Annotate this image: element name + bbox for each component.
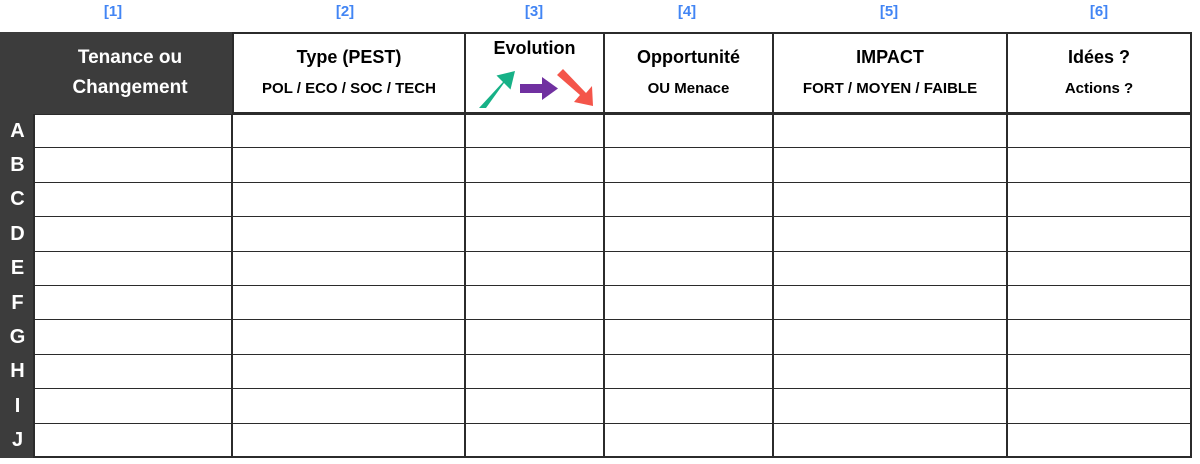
row-label-a: A (0, 114, 33, 148)
table-row (33, 320, 1192, 354)
table-cell-i-3[interactable] (465, 389, 604, 423)
table-cell-e-6[interactable] (1007, 252, 1192, 286)
header-subtitle-menace: OU Menace (648, 76, 730, 102)
table-cell-f-6[interactable] (1007, 286, 1192, 320)
table-cell-h-6[interactable] (1007, 355, 1192, 389)
header-title-impact: IMPACT (856, 44, 924, 70)
header-cell-type-pest: Type (PEST) POL / ECO / SOC / TECH (232, 32, 465, 114)
arrow-up-right-icon (479, 71, 515, 108)
table-cell-a-5[interactable] (773, 114, 1007, 148)
row-label-e: E (0, 252, 33, 286)
table-cell-f-3[interactable] (465, 286, 604, 320)
table-cell-d-1[interactable] (33, 217, 232, 251)
table-cell-c-5[interactable] (773, 183, 1007, 217)
row-label-c: C (0, 183, 33, 217)
table-cell-e-1[interactable] (33, 252, 232, 286)
table-cell-b-4[interactable] (604, 148, 773, 182)
table-cell-e-2[interactable] (232, 252, 465, 286)
row-letter-rail: ABCDEFGHIJ (0, 114, 33, 458)
table-cell-f-1[interactable] (33, 286, 232, 320)
table-cell-d-6[interactable] (1007, 217, 1192, 251)
table-row (33, 148, 1192, 182)
column-number-strip: [1][2][3][4][5][6] (0, 0, 1200, 32)
row-label-i: I (0, 389, 33, 423)
row-label-b: B (0, 148, 33, 182)
pest-analysis-worksheet: [1][2][3][4][5][6] Tenance ou Changement… (0, 0, 1200, 464)
table-cell-g-5[interactable] (773, 320, 1007, 354)
row-label-h: H (0, 355, 33, 389)
table-cell-j-6[interactable] (1007, 424, 1192, 458)
table-cell-h-5[interactable] (773, 355, 1007, 389)
evolution-arrows-group (474, 65, 596, 111)
pest-table: Tenance ou Changement ABCDEFGHIJ Type (P… (0, 32, 1192, 458)
column-number-5: [5] (880, 3, 898, 20)
table-cell-j-5[interactable] (773, 424, 1007, 458)
table-cell-c-3[interactable] (465, 183, 604, 217)
table-cell-i-5[interactable] (773, 389, 1007, 423)
table-cell-c-2[interactable] (232, 183, 465, 217)
header-row: Type (PEST) POL / ECO / SOC / TECH Evolu… (232, 32, 1192, 114)
table-cell-g-4[interactable] (604, 320, 773, 354)
table-cell-d-4[interactable] (604, 217, 773, 251)
table-row (33, 183, 1192, 217)
table-cell-j-2[interactable] (232, 424, 465, 458)
table-cell-g-3[interactable] (465, 320, 604, 354)
table-cell-a-1[interactable] (33, 114, 232, 148)
table-cell-g-1[interactable] (33, 320, 232, 354)
header-title-idees: Idées ? (1068, 44, 1130, 70)
table-cell-f-2[interactable] (232, 286, 465, 320)
table-cell-i-6[interactable] (1007, 389, 1192, 423)
column-number-2: [2] (336, 3, 354, 20)
table-cell-b-5[interactable] (773, 148, 1007, 182)
table-row (33, 286, 1192, 320)
header-subtitle-actions: Actions ? (1065, 76, 1133, 102)
table-cell-i-1[interactable] (33, 389, 232, 423)
header-cell-opportunite-menace: Opportunité OU Menace (604, 32, 773, 114)
table-cell-a-3[interactable] (465, 114, 604, 148)
table-cell-c-4[interactable] (604, 183, 773, 217)
table-cell-b-2[interactable] (232, 148, 465, 182)
table-cell-b-3[interactable] (465, 148, 604, 182)
table-cell-a-2[interactable] (232, 114, 465, 148)
table-cell-d-3[interactable] (465, 217, 604, 251)
table-cell-j-4[interactable] (604, 424, 773, 458)
header-subtitle-impact: FORT / MOYEN / FAIBLE (803, 76, 977, 102)
row-label-d: D (0, 217, 33, 251)
table-cell-c-6[interactable] (1007, 183, 1192, 217)
header-title-line1: Tenance ou (0, 43, 232, 73)
table-cell-i-4[interactable] (604, 389, 773, 423)
table-cell-g-2[interactable] (232, 320, 465, 354)
table-cell-i-2[interactable] (232, 389, 465, 423)
table-cell-h-3[interactable] (465, 355, 604, 389)
table-row (33, 217, 1192, 251)
table-cell-h-4[interactable] (604, 355, 773, 389)
arrow-right-icon (520, 77, 558, 100)
table-cell-b-6[interactable] (1007, 148, 1192, 182)
table-cell-e-4[interactable] (604, 252, 773, 286)
table-cell-h-2[interactable] (232, 355, 465, 389)
table-cell-a-6[interactable] (1007, 114, 1192, 148)
table-body (33, 114, 1192, 458)
row-label-f: F (0, 286, 33, 320)
header-title-line2: Changement (0, 73, 232, 103)
table-cell-a-4[interactable] (604, 114, 773, 148)
table-cell-b-1[interactable] (33, 148, 232, 182)
column-number-6: [6] (1090, 3, 1108, 20)
table-cell-f-5[interactable] (773, 286, 1007, 320)
row-label-j: J (0, 424, 33, 458)
column-number-3: [3] (525, 3, 543, 20)
arrow-down-right-icon (557, 69, 593, 106)
table-row (33, 355, 1192, 389)
table-cell-j-1[interactable] (33, 424, 232, 458)
table-cell-c-1[interactable] (33, 183, 232, 217)
table-row (33, 424, 1192, 458)
row-label-g: G (0, 320, 33, 354)
table-cell-g-6[interactable] (1007, 320, 1192, 354)
header-subtitle-type-pest: POL / ECO / SOC / TECH (262, 76, 436, 102)
column-number-4: [4] (678, 3, 696, 20)
header-title-evolution: Evolution (494, 35, 576, 61)
table-cell-e-3[interactable] (465, 252, 604, 286)
table-cell-h-1[interactable] (33, 355, 232, 389)
column-number-1: [1] (104, 3, 122, 20)
table-cell-d-5[interactable] (773, 217, 1007, 251)
header-cell-idees-actions: Idées ? Actions ? (1007, 32, 1192, 114)
table-row (33, 389, 1192, 423)
table-cell-f-4[interactable] (604, 286, 773, 320)
header-title-opportunite: Opportunité (637, 44, 740, 70)
header-cell-tenance-changement: Tenance ou Changement (0, 32, 232, 114)
table-row (33, 114, 1192, 148)
header-title-type-pest: Type (PEST) (297, 44, 402, 70)
header-cell-impact: IMPACT FORT / MOYEN / FAIBLE (773, 32, 1007, 114)
table-cell-e-5[interactable] (773, 252, 1007, 286)
header-cell-evolution: Evolution (465, 32, 604, 114)
table-cell-j-3[interactable] (465, 424, 604, 458)
table-cell-d-2[interactable] (232, 217, 465, 251)
table-row (33, 252, 1192, 286)
